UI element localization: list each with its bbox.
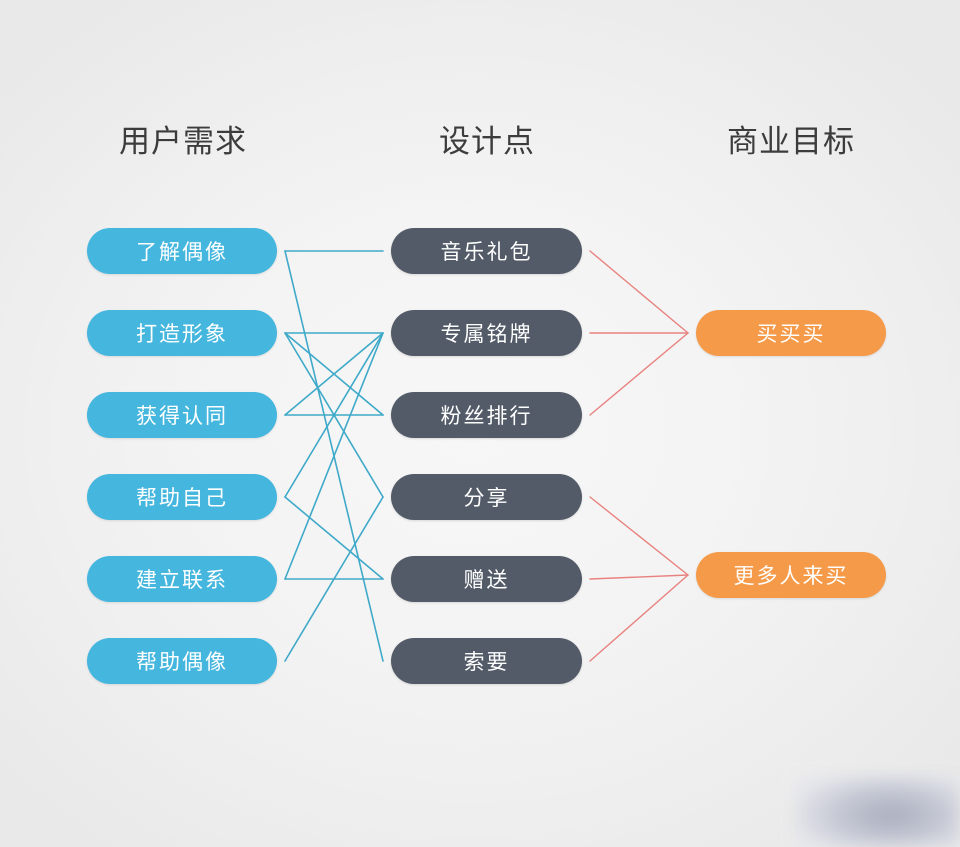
need-design-link-5 <box>285 333 383 415</box>
design-pill-1[interactable]: 专属铭牌 <box>391 310 582 356</box>
pill-label: 音乐礼包 <box>441 236 533 266</box>
design-pill-2[interactable]: 粉丝排行 <box>391 392 582 438</box>
design-pill-0[interactable]: 音乐礼包 <box>391 228 582 274</box>
pill-label: 帮助自己 <box>136 482 228 512</box>
need-pill-5[interactable]: 帮助偶像 <box>87 638 277 684</box>
need-design-link-8 <box>285 497 383 579</box>
need-pill-3[interactable]: 帮助自己 <box>87 474 277 520</box>
need-design-link-11 <box>285 497 383 661</box>
pill-label: 买买买 <box>757 318 826 348</box>
need-design-link-1 <box>285 251 383 661</box>
design-pill-5[interactable]: 索要 <box>391 638 582 684</box>
pill-label: 赠送 <box>464 564 510 594</box>
need-pill-4[interactable]: 建立联系 <box>87 556 277 602</box>
need-design-link-7 <box>285 333 383 497</box>
goal-pill-1[interactable]: 更多人来买 <box>696 552 886 598</box>
pill-label: 索要 <box>464 646 510 676</box>
design-pill-4[interactable]: 赠送 <box>391 556 582 602</box>
pill-label: 更多人来买 <box>734 560 849 590</box>
pill-label: 粉丝排行 <box>441 400 533 430</box>
design-to-goal-links <box>590 251 688 661</box>
design-goal-link-3 <box>590 497 688 575</box>
column-header-needs: 用户需求 <box>119 126 247 157</box>
design-pill-3[interactable]: 分享 <box>391 474 582 520</box>
pill-label: 打造形象 <box>136 318 228 348</box>
need-to-design-links <box>285 251 383 661</box>
pill-label: 帮助偶像 <box>136 646 228 676</box>
pill-label: 了解偶像 <box>136 236 228 266</box>
blurred-watermark-overlay <box>795 776 960 847</box>
pill-label: 专属铭牌 <box>441 318 533 348</box>
goal-pill-0[interactable]: 买买买 <box>696 310 886 356</box>
design-goal-link-0 <box>590 251 688 333</box>
need-pill-2[interactable]: 获得认同 <box>87 392 277 438</box>
need-design-link-3 <box>285 333 383 415</box>
design-goal-link-2 <box>590 333 688 415</box>
need-design-link-9 <box>285 333 383 579</box>
pill-label: 分享 <box>464 482 510 512</box>
need-pill-1[interactable]: 打造形象 <box>87 310 277 356</box>
diagram-canvas: 用户需求 设计点 商业目标 了解偶像打造形象获得认同帮助自己建立联系帮助偶像音乐… <box>0 0 960 847</box>
pill-label: 建立联系 <box>136 564 228 594</box>
need-pill-0[interactable]: 了解偶像 <box>87 228 277 274</box>
design-goal-link-4 <box>590 575 688 579</box>
column-header-goals: 商业目标 <box>727 126 855 157</box>
pill-label: 获得认同 <box>136 400 228 430</box>
need-design-link-4 <box>285 333 383 497</box>
design-goal-link-5 <box>590 575 688 661</box>
column-header-designs: 设计点 <box>439 126 535 157</box>
